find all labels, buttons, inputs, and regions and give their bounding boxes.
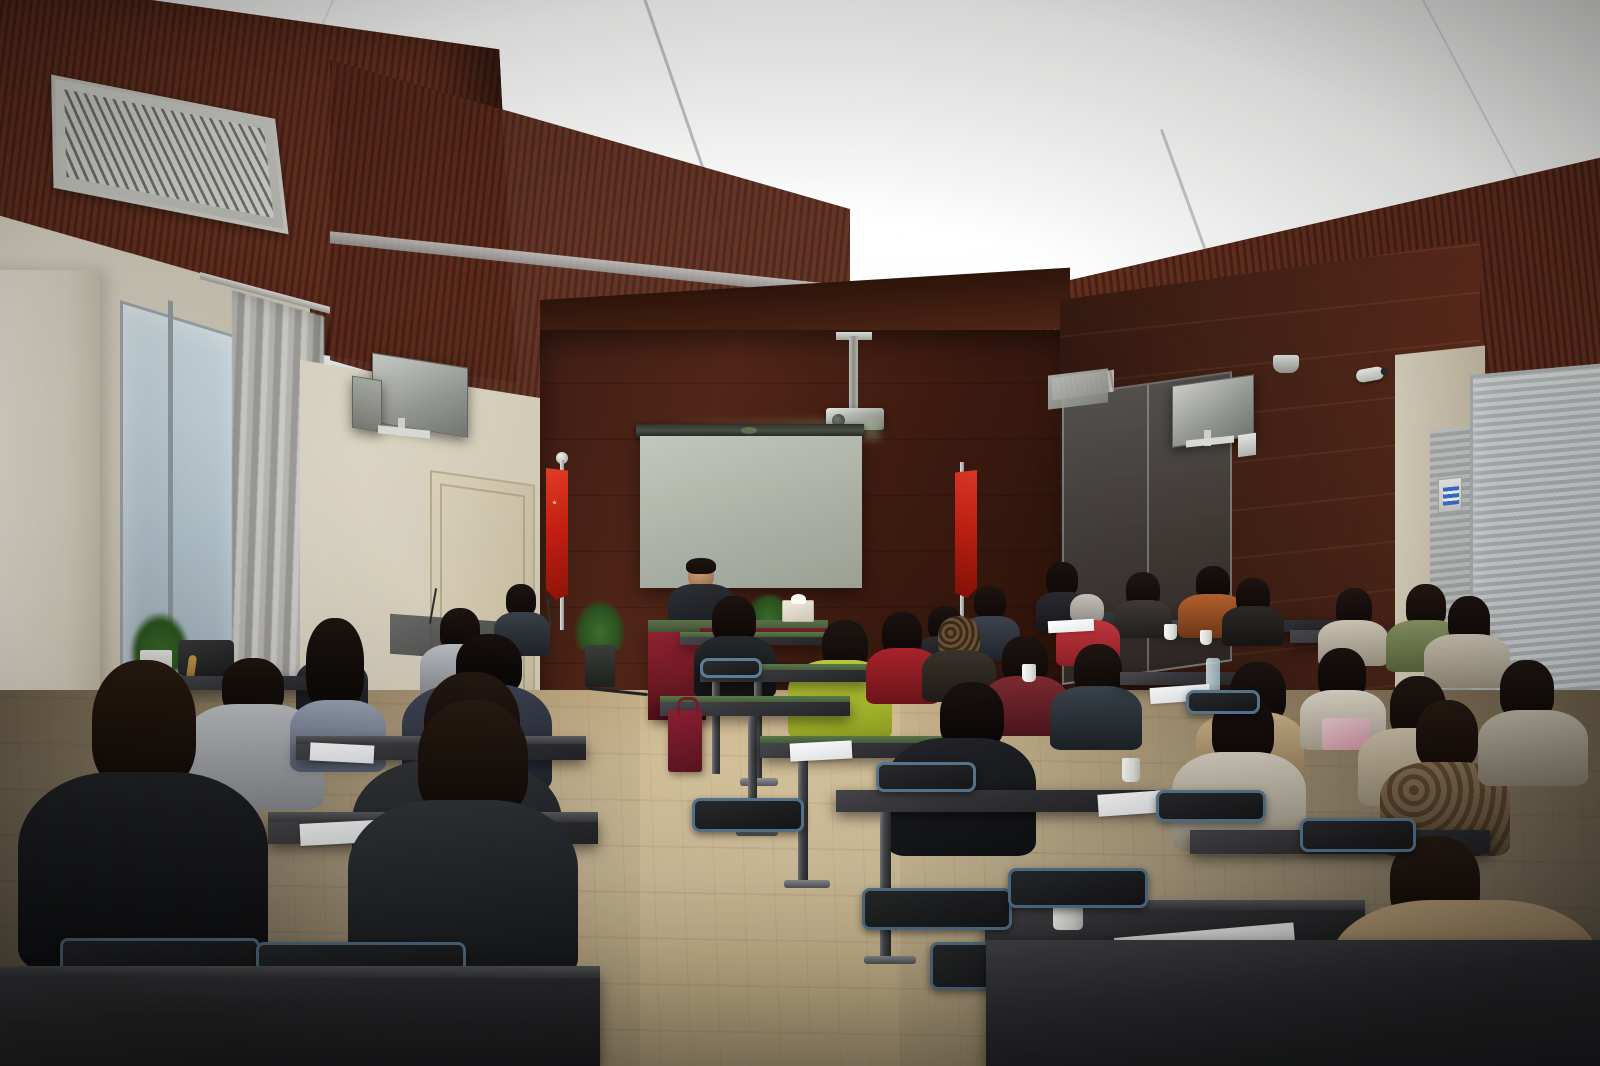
loudspeaker-icon [372,352,468,437]
ceiling-dome-light-icon [1273,355,1299,373]
presenter-hair [686,558,716,574]
projection-screen: 当前税收管理存在的问题 中国税网 www.ctax.org.cn 1、税收执法：… [640,436,862,588]
chair[interactable] [876,762,976,792]
chair[interactable] [692,798,804,832]
paper-cup [1164,624,1177,640]
desk-foot [864,956,916,964]
tissue-box [782,600,814,622]
chinese-flag [546,468,568,600]
training-desk [0,972,600,1066]
chair[interactable] [1186,690,1260,714]
projector-pole [849,336,858,414]
speaker-bracket-box [1238,433,1256,458]
loudspeaker-icon [352,376,382,433]
chair[interactable] [700,658,762,678]
handout-paper [790,740,853,761]
potted-plant [575,600,625,650]
plant-pot [585,645,615,687]
desk-foot [784,880,830,888]
training-room-photograph: 当前税收管理存在的问题 中国税网 www.ctax.org.cn 1、税收执法：… [0,0,1600,1066]
chair[interactable] [1156,790,1266,822]
paper-cup [1200,630,1212,645]
training-desk [986,940,1600,1066]
chair[interactable] [1008,868,1148,908]
wall-control-panel[interactable] [1438,477,1462,514]
desk-leg [880,812,891,962]
red-handbag [668,710,702,772]
handout-paper [310,742,375,763]
chinese-flag [955,470,977,598]
desk-top-edge [0,966,600,978]
chair[interactable] [862,888,1012,930]
desk-foot [740,778,778,786]
handout-paper [1048,619,1095,633]
paper-cup [1122,758,1140,782]
chair[interactable] [1300,818,1416,852]
paper-cup [1022,664,1036,682]
